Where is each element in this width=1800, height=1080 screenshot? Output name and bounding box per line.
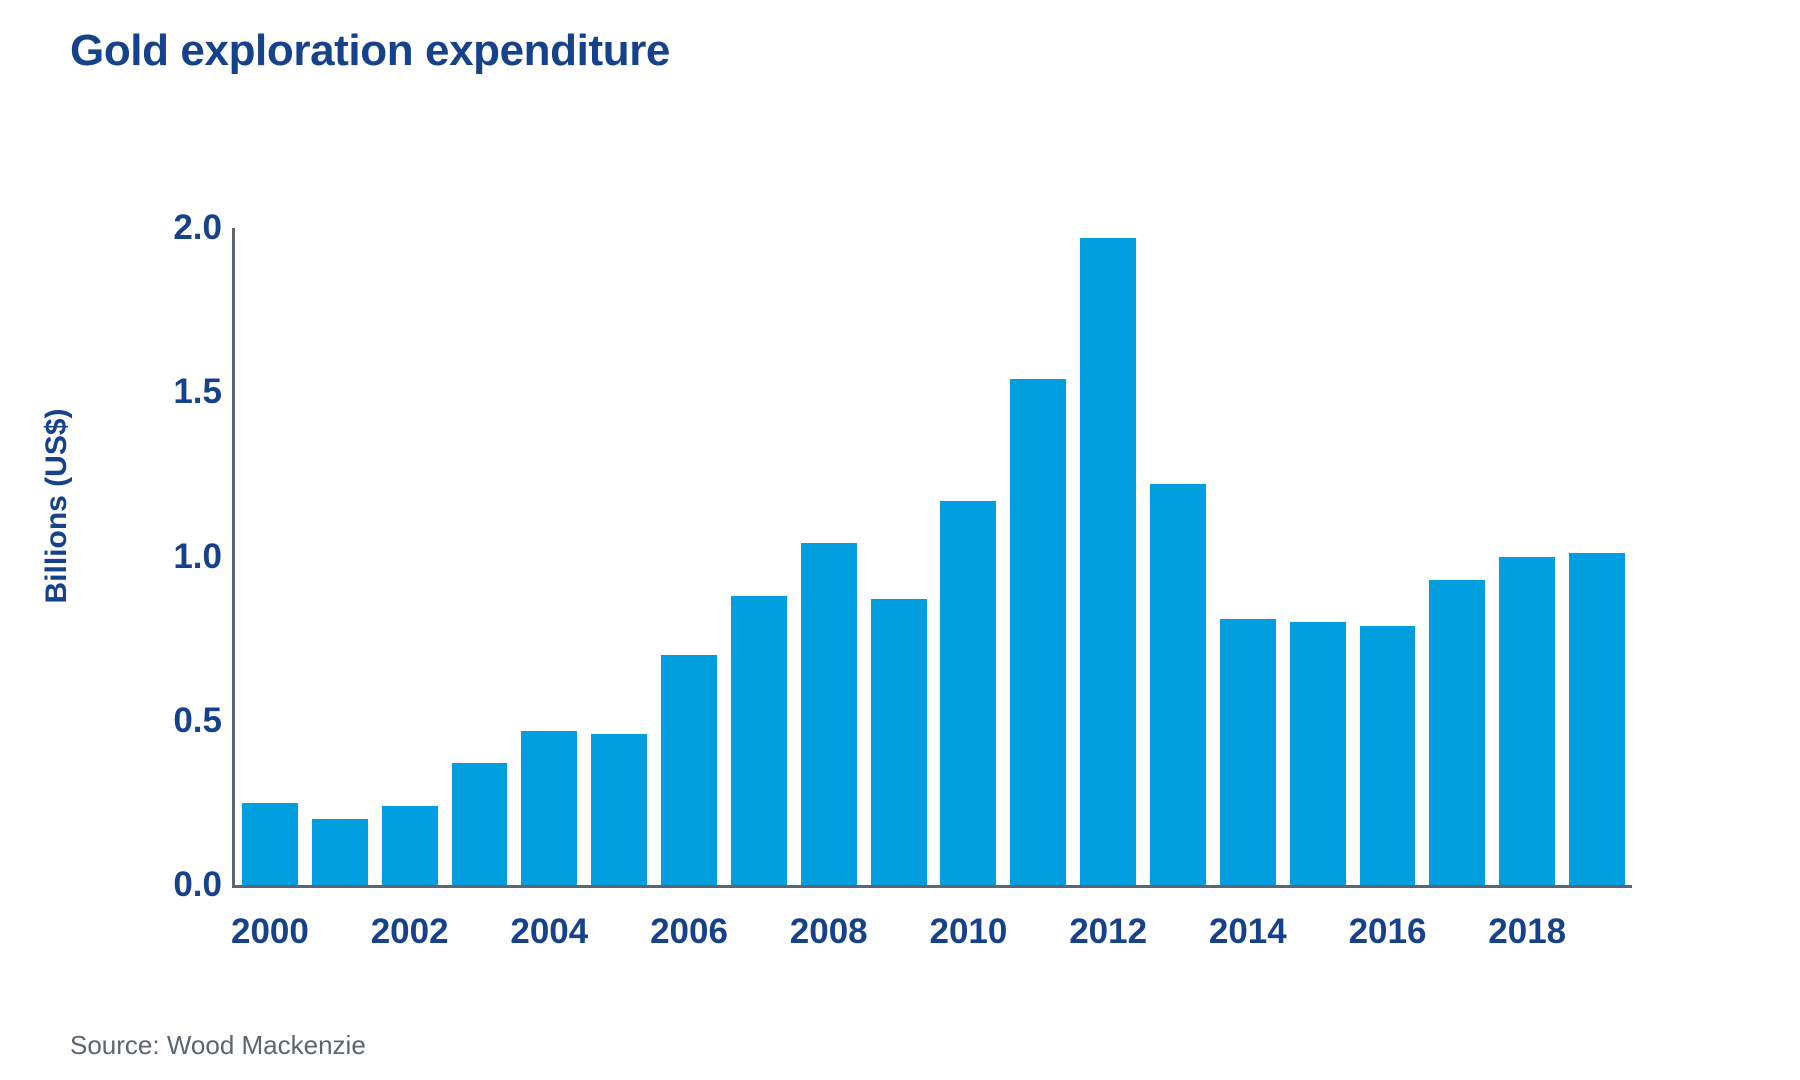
y-axis-label: Billions (US$) [40, 336, 74, 676]
y-axis-tick-label: 0.0 [102, 865, 222, 905]
bar [1499, 557, 1555, 886]
chart-page: Gold exploration expenditure Billions (U… [0, 0, 1800, 1080]
bar [521, 731, 577, 885]
x-axis-tick-label: 2002 [371, 912, 449, 952]
chart-plot-area: Billions (US$) 0.00.51.01.52.0 200020022… [0, 0, 1800, 1080]
bar [661, 655, 717, 885]
bar-series [235, 228, 1632, 885]
bar [1569, 553, 1625, 885]
bar [382, 806, 438, 885]
bar [242, 803, 298, 885]
bar [452, 763, 508, 885]
x-axis-tick-label: 2012 [1069, 912, 1147, 952]
bar [1360, 626, 1416, 886]
x-axis-tick-label: 2010 [929, 912, 1007, 952]
bar [731, 596, 787, 885]
bar [1010, 379, 1066, 885]
x-axis-tick-label: 2018 [1488, 912, 1566, 952]
source-note: Source: Wood Mackenzie [70, 1030, 366, 1061]
bar [591, 734, 647, 885]
y-axis-tick-label: 1.0 [102, 537, 222, 577]
bar [1080, 238, 1136, 885]
y-axis-tick-label: 0.5 [102, 701, 222, 741]
x-axis-tick-label: 2016 [1349, 912, 1427, 952]
x-axis-tick-label: 2014 [1209, 912, 1287, 952]
y-axis-tick-label: 1.5 [102, 372, 222, 412]
x-axis-tick-label: 2008 [790, 912, 868, 952]
bar [312, 819, 368, 885]
bar [1150, 484, 1206, 885]
bar [871, 599, 927, 885]
x-axis-tick-label: 2006 [650, 912, 728, 952]
x-axis-tick-label: 2000 [231, 912, 309, 952]
bar [940, 501, 996, 885]
bar [1429, 580, 1485, 886]
bar [801, 543, 857, 885]
bar [1290, 622, 1346, 885]
x-axis-tick-label: 2004 [510, 912, 588, 952]
x-axis-line [232, 885, 1632, 888]
bar [1220, 619, 1276, 885]
y-axis-tick-label: 2.0 [102, 208, 222, 248]
